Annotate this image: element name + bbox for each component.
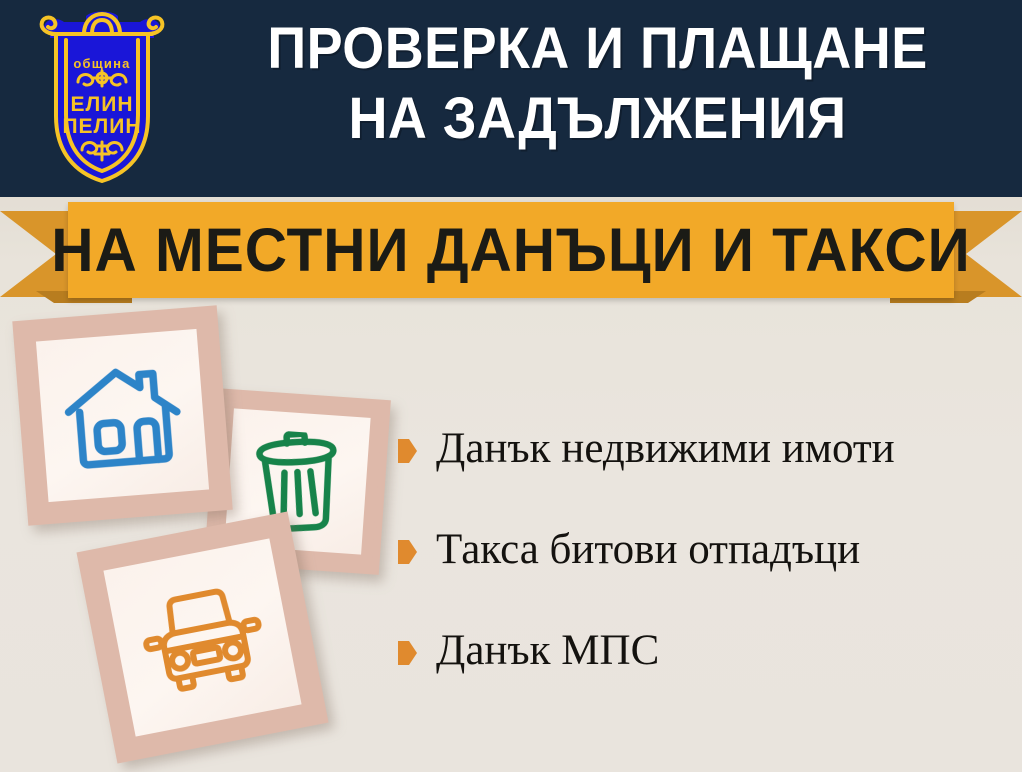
list-item[interactable]: Такса битови отпадъци [398,526,1008,574]
stamp-paper-house [36,329,209,502]
coat-of-arms-icon: община ЕЛИН ПЕЛИН [26,8,178,188]
arrow-bullet-icon [398,540,417,564]
list-item[interactable]: Данък МПС [398,627,1008,675]
list-item-label: Такса битови отпадъци [436,526,860,574]
stamp-paper-car [103,538,301,736]
ribbon-subtitle: НА МЕСТНИ ДАНЪЦИ И ТАКСИ [86,202,937,298]
stamp-card-car [76,511,328,763]
list-item[interactable]: Данък недвижими имоти [398,425,1008,473]
crest-label-obshtina: община [73,56,130,71]
car-front-icon [134,577,271,698]
tax-type-list: Данък недвижими имоти Такса битови отпад… [398,425,1008,675]
ribbon-banner: НА МЕСТНИ ДАНЪЦИ И ТАКСИ [0,195,1022,310]
poster-canvas: община ЕЛИН ПЕЛИН [0,0,1022,772]
stamp-card-house [12,305,232,525]
list-item-label: Данък МПС [436,627,659,675]
crest-label-elin: ЕЛИН [70,93,133,116]
header-banner: община ЕЛИН ПЕЛИН [0,0,1022,197]
page-title: ПРОВЕРКА И ПЛАЩАНЕ НА ЗАДЪЛЖЕНИЯ [214,14,981,154]
house-icon [60,359,186,472]
arrow-bullet-icon [398,641,417,665]
arrow-bullet-icon [398,439,417,463]
page-title-line-2: НА ЗАДЪЛЖЕНИЯ [214,84,981,154]
page-title-line-1: ПРОВЕРКА И ПЛАЩАНЕ [214,14,981,84]
crest-label-pelin: ПЕЛИН [62,115,141,138]
list-item-label: Данък недвижими имоти [436,425,895,473]
